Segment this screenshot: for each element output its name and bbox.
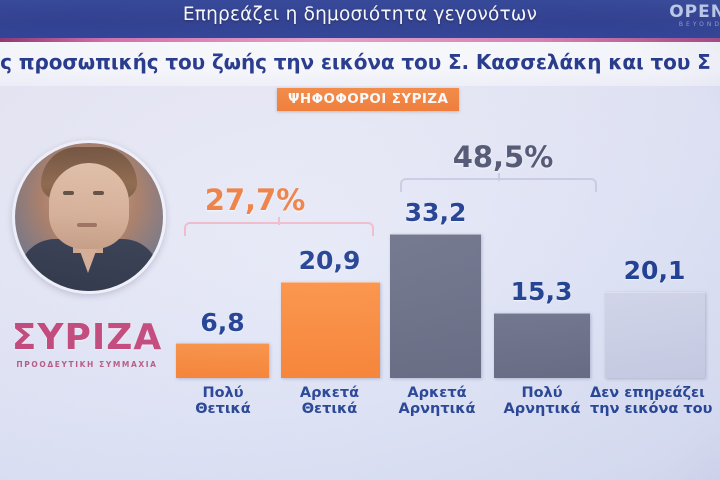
bracket-positive [184,222,374,236]
category-label-den-epireazei: Δεν επηρεάζει την εικόνα του [590,385,720,417]
bracket-stem [498,173,500,181]
category-label-line2: Αρνητικά [486,401,598,417]
bar-value-polu-arnitika: 15,3 [490,277,593,306]
category-label-line1: Πολύ [168,385,278,401]
category-label-arketa-thetika: Αρκετά Θετικά [272,385,387,417]
bracket-stem [278,217,280,225]
category-label-line2: την εικόνα του [590,401,720,417]
category-label-line2: Θετικά [168,401,278,417]
bar-arketa-arnitika [390,234,481,378]
category-label-polu-arnitika: Πολύ Αρνητικά [486,385,598,417]
category-label-arketa-arnitika: Αρκετά Αρνητικά [378,385,496,417]
broadcast-screen: Επηρεάζει η δημοσιότητα γεγονότων OPEN B… [0,0,720,480]
category-label-line1: Πολύ [486,385,598,401]
bracket-negative [400,178,597,192]
category-label-line2: Αρνητικά [378,401,496,417]
bar-value-den-epireazei: 20,1 [602,256,707,285]
bar-polu-thetika [176,343,269,378]
category-label-line1: Αρκετά [378,385,496,401]
group-total-negative: 48,5% [428,140,578,174]
category-label-polu-thetika: Πολύ Θετικά [168,385,278,417]
bar-chart: 27,7% 48,5% 6,8 Πολύ Θετικά 20,9 Αρκετά … [0,0,720,480]
bar-value-arketa-arnitika: 33,2 [385,198,486,227]
bar-den-epireazei [605,292,705,378]
bar-arketa-thetika [281,282,380,378]
category-label-line1: Αρκετά [272,385,387,401]
category-label-line1: Δεν επηρεάζει [590,385,720,401]
bar-value-polu-thetika: 6,8 [176,308,269,337]
group-total-positive: 27,7% [180,183,330,217]
bar-polu-arnitika [494,313,590,378]
category-label-line2: Θετικά [272,401,387,417]
bar-value-arketa-thetika: 20,9 [277,246,382,275]
